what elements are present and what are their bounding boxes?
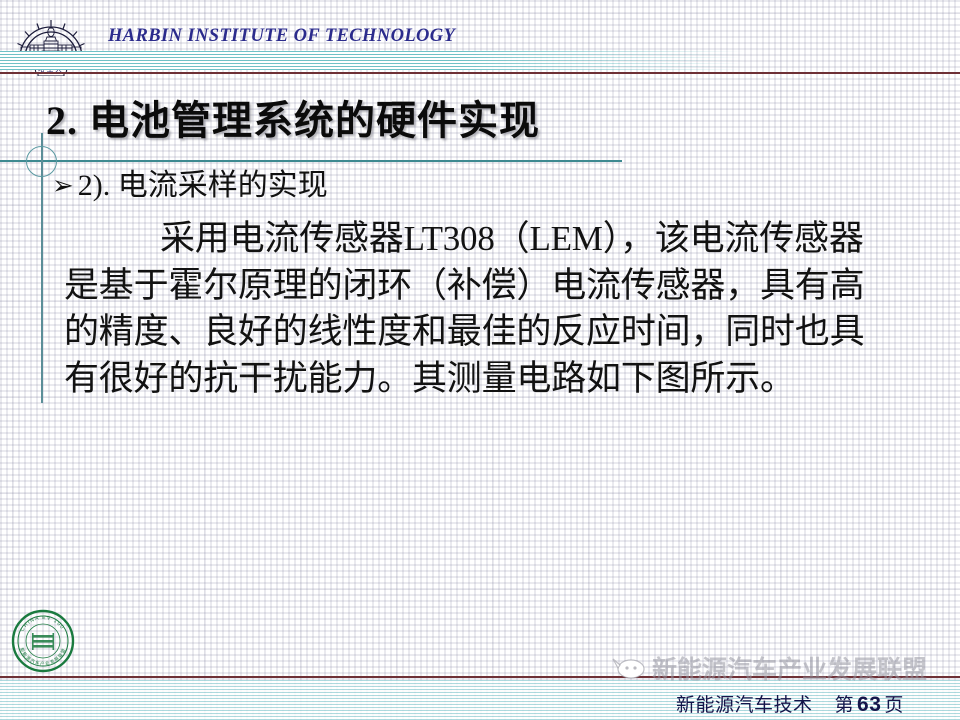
watermark-label: 新能源汽车产业发展联盟 [652, 650, 927, 686]
header-divider-rule [0, 72, 960, 74]
watermark: 新能源汽车产业发展联盟 [612, 650, 927, 686]
page-number: 63 [857, 693, 881, 716]
page-prefix: 第 [835, 695, 855, 716]
green-round-stamp: CHINA EV 100 新能源汽车产业发展联盟 [10, 608, 76, 674]
slide-header: 1920 哈工大 HARBIN INSTITUTE OF TECHNOLOGY [0, 0, 960, 80]
bullet-item-label: 2). 电流采样的实现 [78, 166, 328, 206]
speech-bubble-icon [612, 656, 646, 680]
page-title: 2. 电池管理系统的硬件实现 [46, 97, 540, 145]
body-line-5: 量电路如下图所示。 [482, 359, 795, 398]
institution-title: HARBIN INSTITUTE OF TECHNOLOGY [108, 26, 455, 47]
body-line-1: 采用电流传感器LT308（LEM），该电流传 [160, 219, 794, 258]
slide-canvas: 1920 哈工大 HARBIN INSTITUTE OF TECHNOLOGY … [0, 0, 960, 720]
course-label: 新能源汽车技术 [676, 695, 813, 716]
title-underline [0, 160, 622, 162]
page-suffix: 页 [884, 695, 904, 716]
body-paragraph: 采用电流传感器LT308（LEM），该电流传感器是基于霍尔原理的闭环（补偿）电流… [64, 216, 876, 402]
bullet-item: ➢ 2). 电流采样的实现 [52, 166, 328, 207]
arrow-bullet-icon: ➢ [52, 166, 74, 206]
page-footer: 新能源汽车技术第63页 [676, 690, 904, 717]
header-stripe-band [0, 51, 745, 70]
